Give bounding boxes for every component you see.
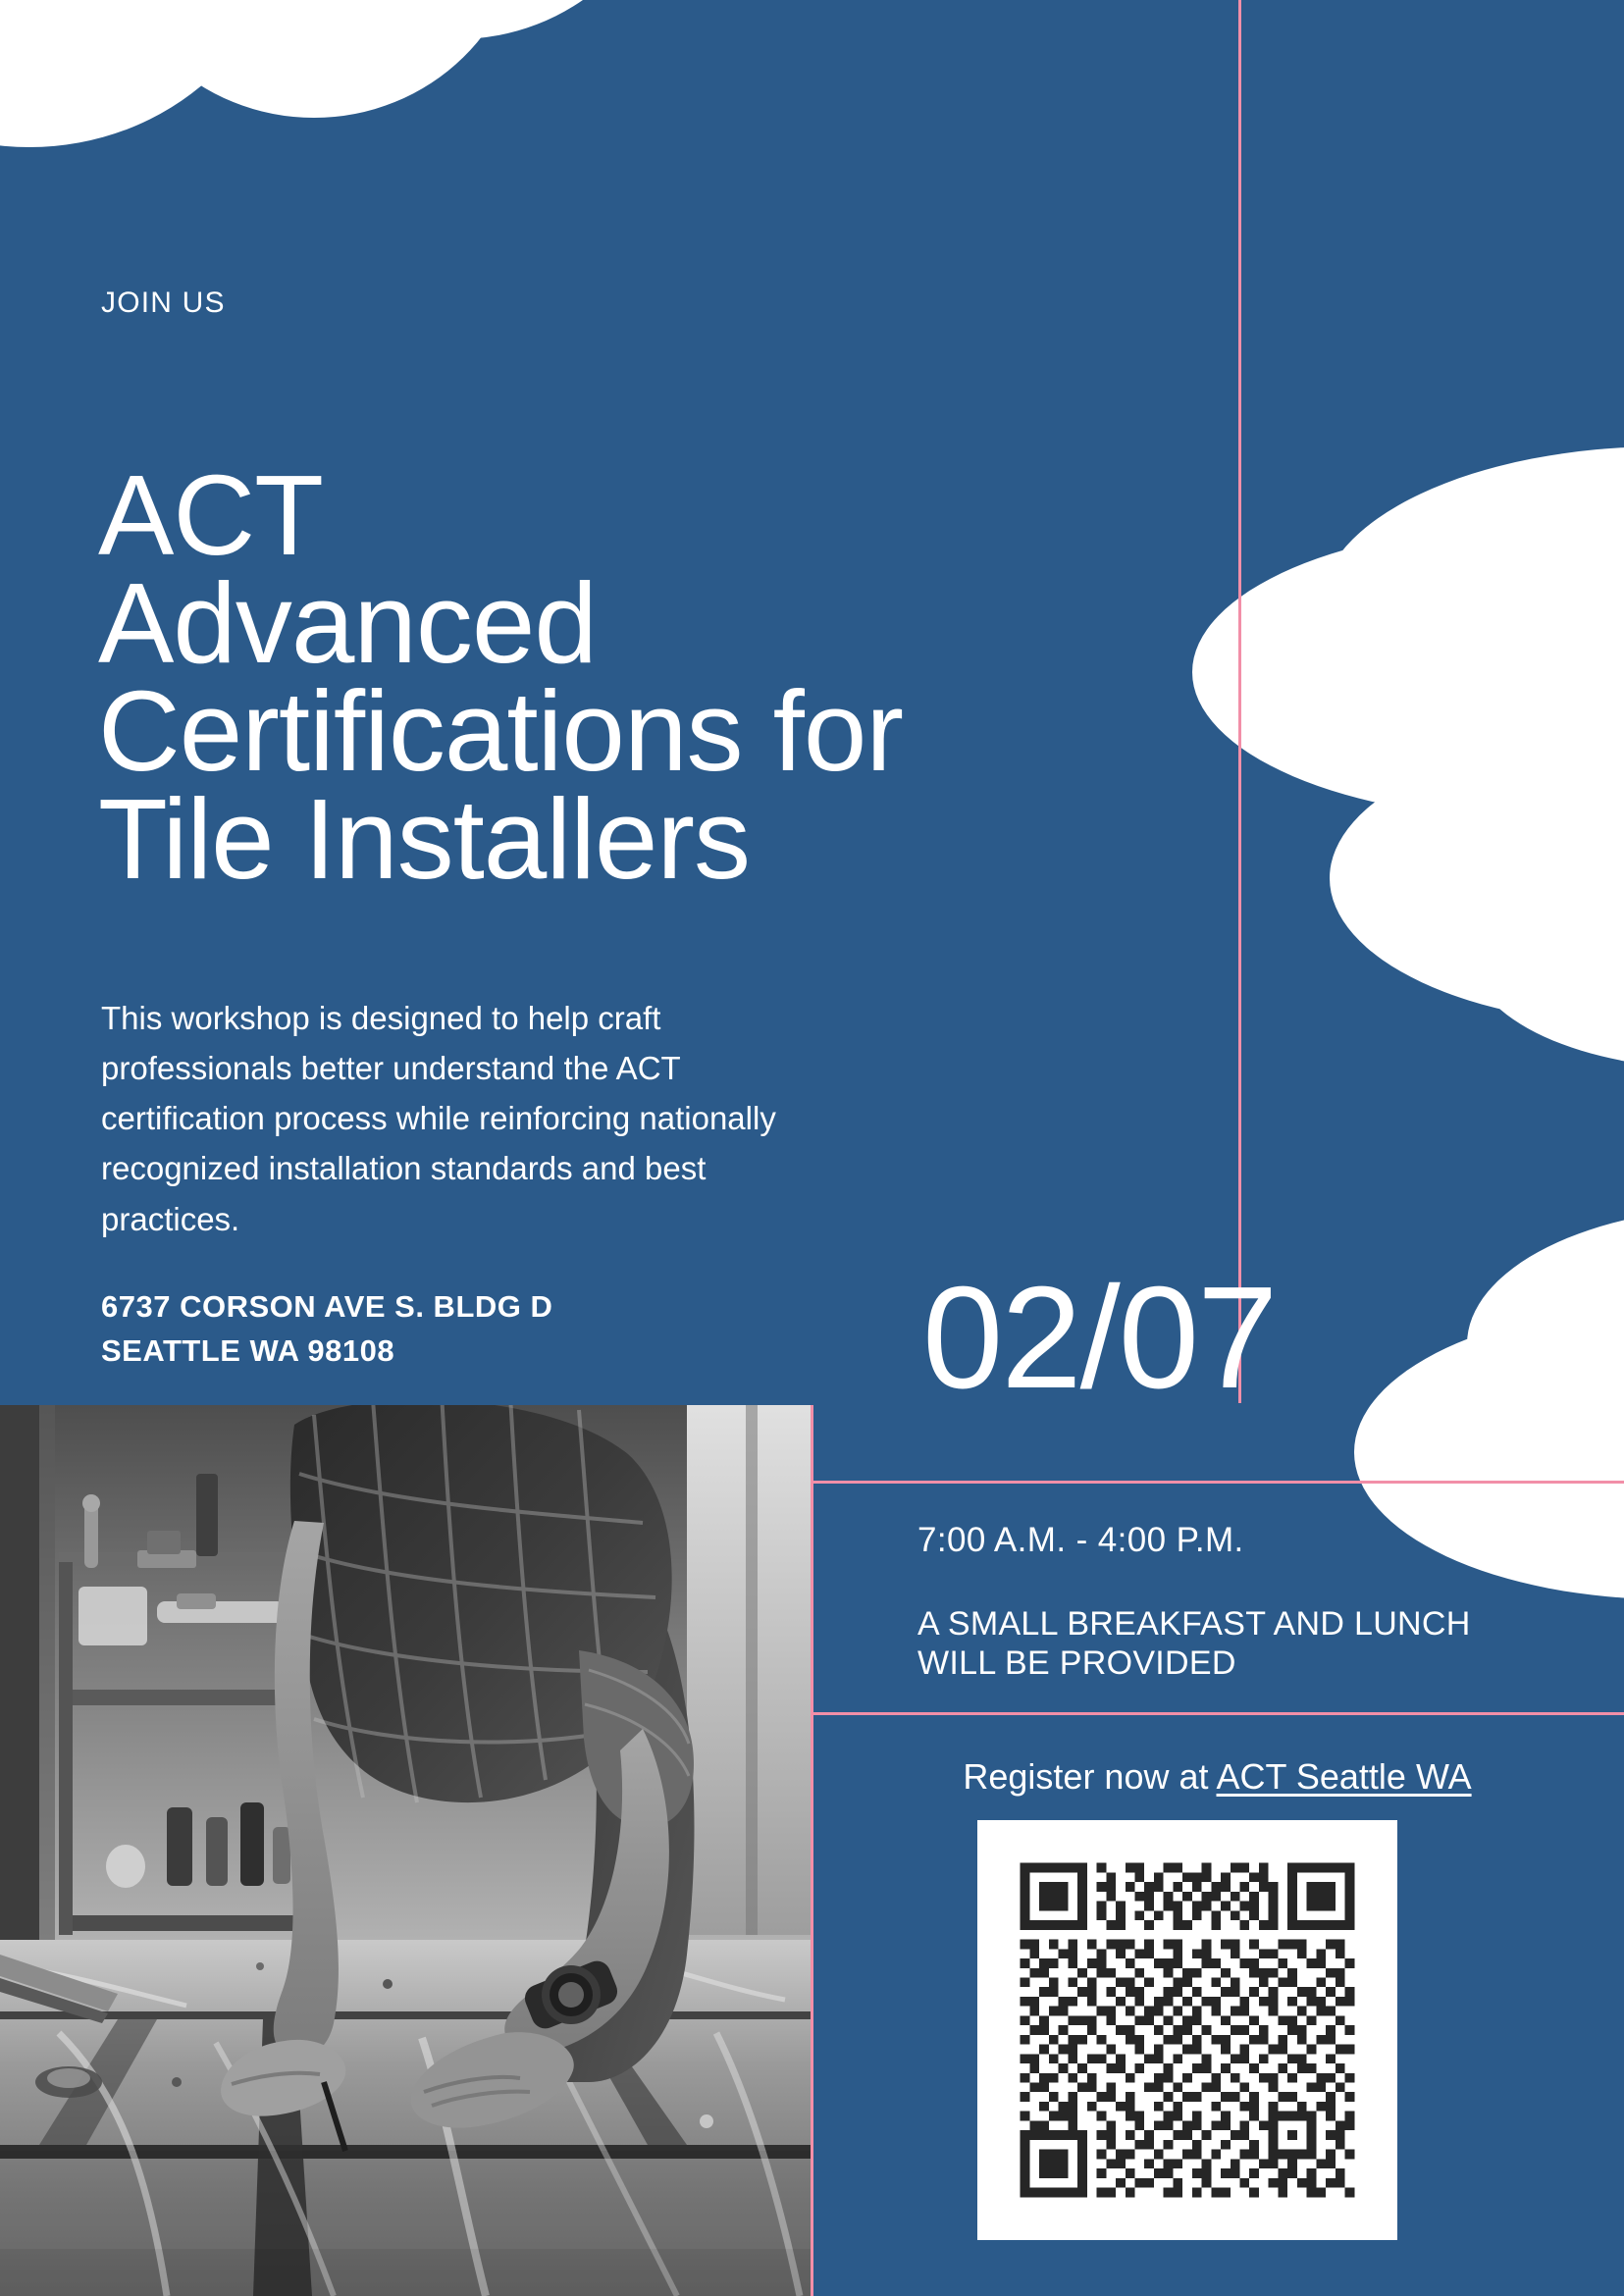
event-time: 7:00 A.M. - 4:00 P.M.: [917, 1521, 1244, 1560]
description-line-1: This workshop is designed to help craft: [101, 993, 965, 1043]
page-title: ACT Advanced Certifications for Tile Ins…: [98, 461, 1197, 894]
decorative-blob-top-left-3: [245, 0, 667, 39]
decorative-blob-top-left-4: [0, 0, 49, 108]
register-cta: Register now at ACT Seattle WA: [811, 1756, 1624, 1798]
headline-line-3: Certifications for: [98, 677, 1197, 785]
decorative-blob-right-1: [1192, 525, 1624, 819]
decorative-blob-right-5: [1467, 1207, 1624, 1482]
address-line-2: SEATTLE WA 98108: [101, 1330, 552, 1374]
description-line-2: professionals better understand the ACT: [101, 1043, 965, 1093]
decorative-blob-top-left-2: [103, 0, 525, 118]
photo-edge-accent-rule: [811, 1405, 813, 2296]
address-line-1: 6737 CORSON AVE S. BLDG D: [101, 1285, 552, 1330]
event-date: 02/07: [922, 1266, 1276, 1411]
decorative-blob-top-left-1: [0, 0, 285, 147]
venue-address: 6737 CORSON AVE S. BLDG D SEATTLE WA 981…: [101, 1285, 552, 1374]
description-line-3: certification process while reinforcing …: [101, 1093, 965, 1143]
decorative-blob-right-3: [1330, 731, 1624, 1025]
description-line-4: recognized installation standards and be…: [101, 1143, 965, 1193]
register-prefix: Register now at: [963, 1756, 1216, 1797]
divider-rule-top: [811, 1481, 1624, 1484]
meal-note: A SMALL BREAKFAST AND LUNCH WILL BE PROV…: [917, 1604, 1604, 1683]
eyebrow-label: JOIN US: [101, 287, 226, 320]
divider-rule-bottom: [811, 1712, 1624, 1715]
register-link[interactable]: ACT Seattle WA: [1217, 1756, 1472, 1797]
qr-code[interactable]: [977, 1820, 1397, 2240]
meal-note-line-2: WILL BE PROVIDED: [917, 1644, 1604, 1683]
meal-note-line-1: A SMALL BREAKFAST AND LUNCH: [917, 1604, 1604, 1644]
description-text: This workshop is designed to help craft …: [101, 993, 965, 1244]
decorative-blob-right-2: [1320, 446, 1624, 770]
tile-installer-photo: [0, 1405, 811, 2296]
decorative-blob-right-4: [1472, 844, 1624, 1070]
decorative-blob-right-6: [1354, 1305, 1624, 1599]
headline-line-4: Tile Installers: [98, 785, 1197, 893]
vertical-accent-rule: [1238, 0, 1241, 1403]
headline-line-2: Advanced: [98, 569, 1197, 677]
poster-canvas: JOIN US ACT Advanced Certifications for …: [0, 0, 1624, 2296]
headline-line-1: ACT: [98, 461, 1197, 569]
description-line-5: practices.: [101, 1194, 965, 1244]
